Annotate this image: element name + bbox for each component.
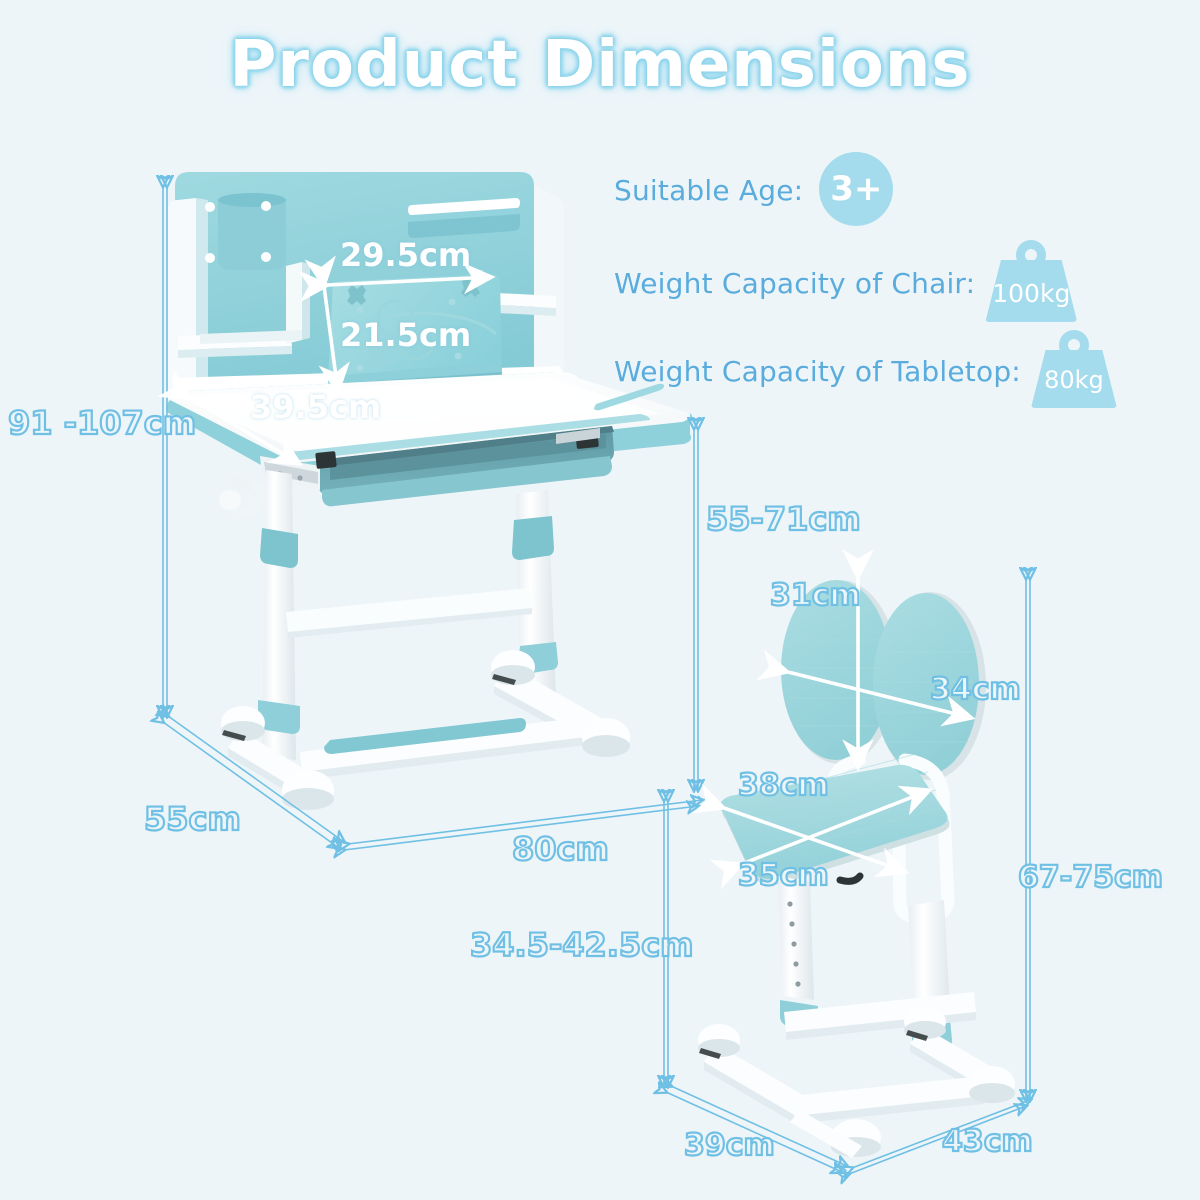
- dim-chair-seat-height: 34.5-42.5cm: [470, 926, 694, 964]
- dim-bookstand-height: 21.5cm: [340, 316, 471, 354]
- dim-chair-seat-width: 35cm: [738, 858, 829, 893]
- product-illustration: [0, 0, 1200, 1200]
- chair-weight-label: Weight Capacity of Chair:: [614, 267, 975, 300]
- spec-row-age: Suitable Age: 3+: [614, 154, 893, 226]
- dim-desk-tabletop-height: 55-71cm: [706, 500, 861, 538]
- age-badge-value: 3+: [830, 169, 882, 209]
- spec-row-chair-weight: Weight Capacity of Chair: 100kg: [614, 244, 1077, 322]
- desk-frame: [219, 470, 630, 810]
- dim-chair-seat-depth: 38cm: [738, 768, 829, 803]
- dim-bookstand-width: 29.5cm: [340, 236, 471, 274]
- dim-desk-overall-height: 91 -107cm: [8, 404, 196, 442]
- dim-chair-backrest-width: 34cm: [930, 672, 1021, 707]
- infographic-canvas: Product Dimensions: [0, 0, 1200, 1200]
- dim-chair-backrest-height: 31cm: [770, 578, 861, 613]
- tabletop-weight-value: 80kg: [1044, 366, 1104, 408]
- dim-chair-base-width: 43cm: [942, 1124, 1033, 1159]
- dim-desk-depth: 55cm: [144, 800, 241, 838]
- chair-weight-value: 100kg: [992, 279, 1070, 322]
- chair-frame: [698, 876, 1015, 1158]
- spec-row-tabletop-weight: Weight Capacity of Tabletop: 80kg: [614, 334, 1117, 408]
- dim-desk-width: 80cm: [512, 830, 609, 868]
- suitable-age-label: Suitable Age:: [614, 174, 803, 207]
- age-badge: 3+: [819, 152, 893, 226]
- tabletop-weight-label: Weight Capacity of Tabletop:: [614, 355, 1021, 388]
- weight-icon: 100kg: [985, 240, 1077, 322]
- dim-chair-base-depth: 39cm: [684, 1128, 775, 1163]
- dim-tabletop-depth: 39.5cm: [250, 388, 381, 426]
- dim-chair-total-height: 67-75cm: [1018, 860, 1163, 895]
- weight-icon: 80kg: [1031, 330, 1117, 408]
